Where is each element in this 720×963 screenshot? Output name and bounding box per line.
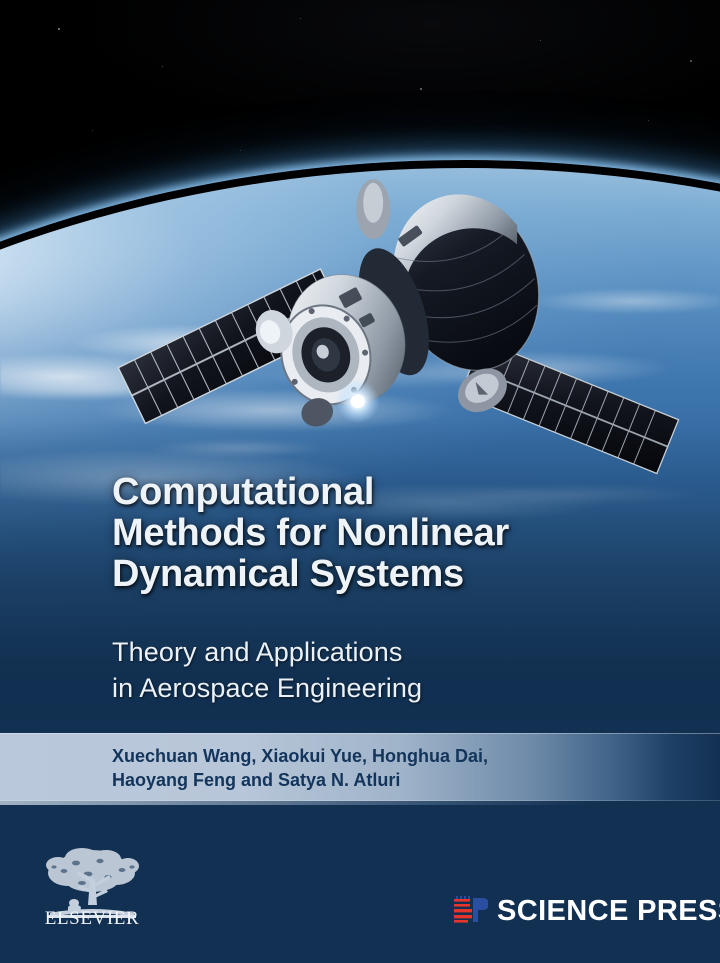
- subtitle-line-1: Theory and Applications: [112, 634, 672, 670]
- subtitle-line-2: in Aerospace Engineering: [112, 670, 672, 706]
- author-line-2: Haoyang Feng and Satya N. Atluri: [112, 768, 632, 792]
- title-line-1: Computational: [112, 472, 672, 513]
- author-line-1: Xuechuan Wang, Xiaokui Yue, Honghua Dai,: [112, 744, 632, 768]
- elsevier-wordmark: ELSEVIER: [38, 908, 146, 930]
- science-press-emblem-icon: [452, 896, 488, 926]
- page-title: Computational Methods for Nonlinear Dyna…: [112, 472, 672, 595]
- author-list: Xuechuan Wang, Xiaokui Yue, Honghua Dai,…: [112, 744, 632, 792]
- title-line-3: Dynamical Systems: [112, 554, 672, 595]
- title-line-2: Methods for Nonlinear: [112, 513, 672, 554]
- book-cover: Computational Methods for Nonlinear Dyna…: [0, 0, 720, 963]
- science-press-logo: SCIENCE PRESS: [452, 893, 720, 929]
- page-subtitle: Theory and Applications in Aerospace Eng…: [112, 634, 672, 706]
- science-press-wordmark: SCIENCE PRESS: [497, 896, 720, 926]
